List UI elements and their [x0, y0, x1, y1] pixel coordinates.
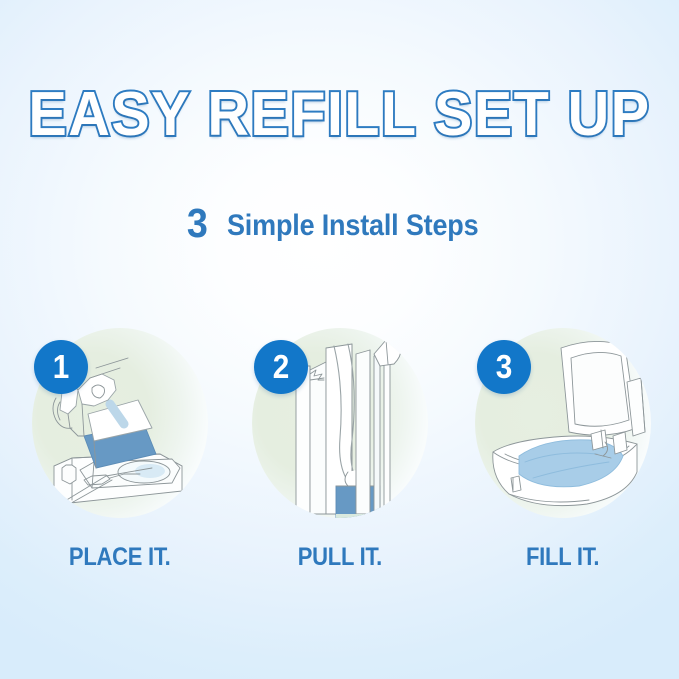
subtitle-block: 3Simple Install Steps: [0, 200, 679, 247]
subtitle-step-count: 3: [187, 200, 208, 247]
step-2-badge: 2: [254, 340, 308, 394]
step-3-caption-text: FILL IT.: [526, 543, 599, 572]
step-3-number: 3: [480, 340, 529, 394]
step-2-number: 2: [257, 340, 306, 394]
step-item-2: 2 PULL IT.: [240, 300, 440, 600]
page-title: EASY REFILL SET UP: [28, 82, 650, 148]
step-3-caption: FILL IT.: [463, 543, 663, 572]
step-1-number: 1: [37, 340, 86, 394]
step-3-illustration-wrap: 3: [463, 328, 663, 528]
subtitle-label: Simple Install Steps: [227, 209, 478, 243]
steps-row: 1 PLACE IT.: [0, 300, 679, 600]
step-1-illustration-wrap: 1: [20, 328, 220, 528]
step-1-badge: 1: [34, 340, 88, 394]
step-1-caption: PLACE IT.: [20, 543, 220, 572]
step-item-3: 3 FILL IT.: [463, 300, 663, 600]
infographic-poster: EASY REFILL SET UP 3Simple Install Steps: [0, 0, 679, 679]
title-block: EASY REFILL SET UP: [0, 82, 679, 148]
step-2-caption: PULL IT.: [240, 543, 440, 572]
step-1-caption-text: PLACE IT.: [69, 543, 171, 572]
step-2-caption-text: PULL IT.: [298, 543, 382, 572]
step-2-illustration-wrap: 2: [240, 328, 440, 528]
step-item-1: 1 PLACE IT.: [20, 300, 220, 600]
step-3-badge: 3: [477, 340, 531, 394]
